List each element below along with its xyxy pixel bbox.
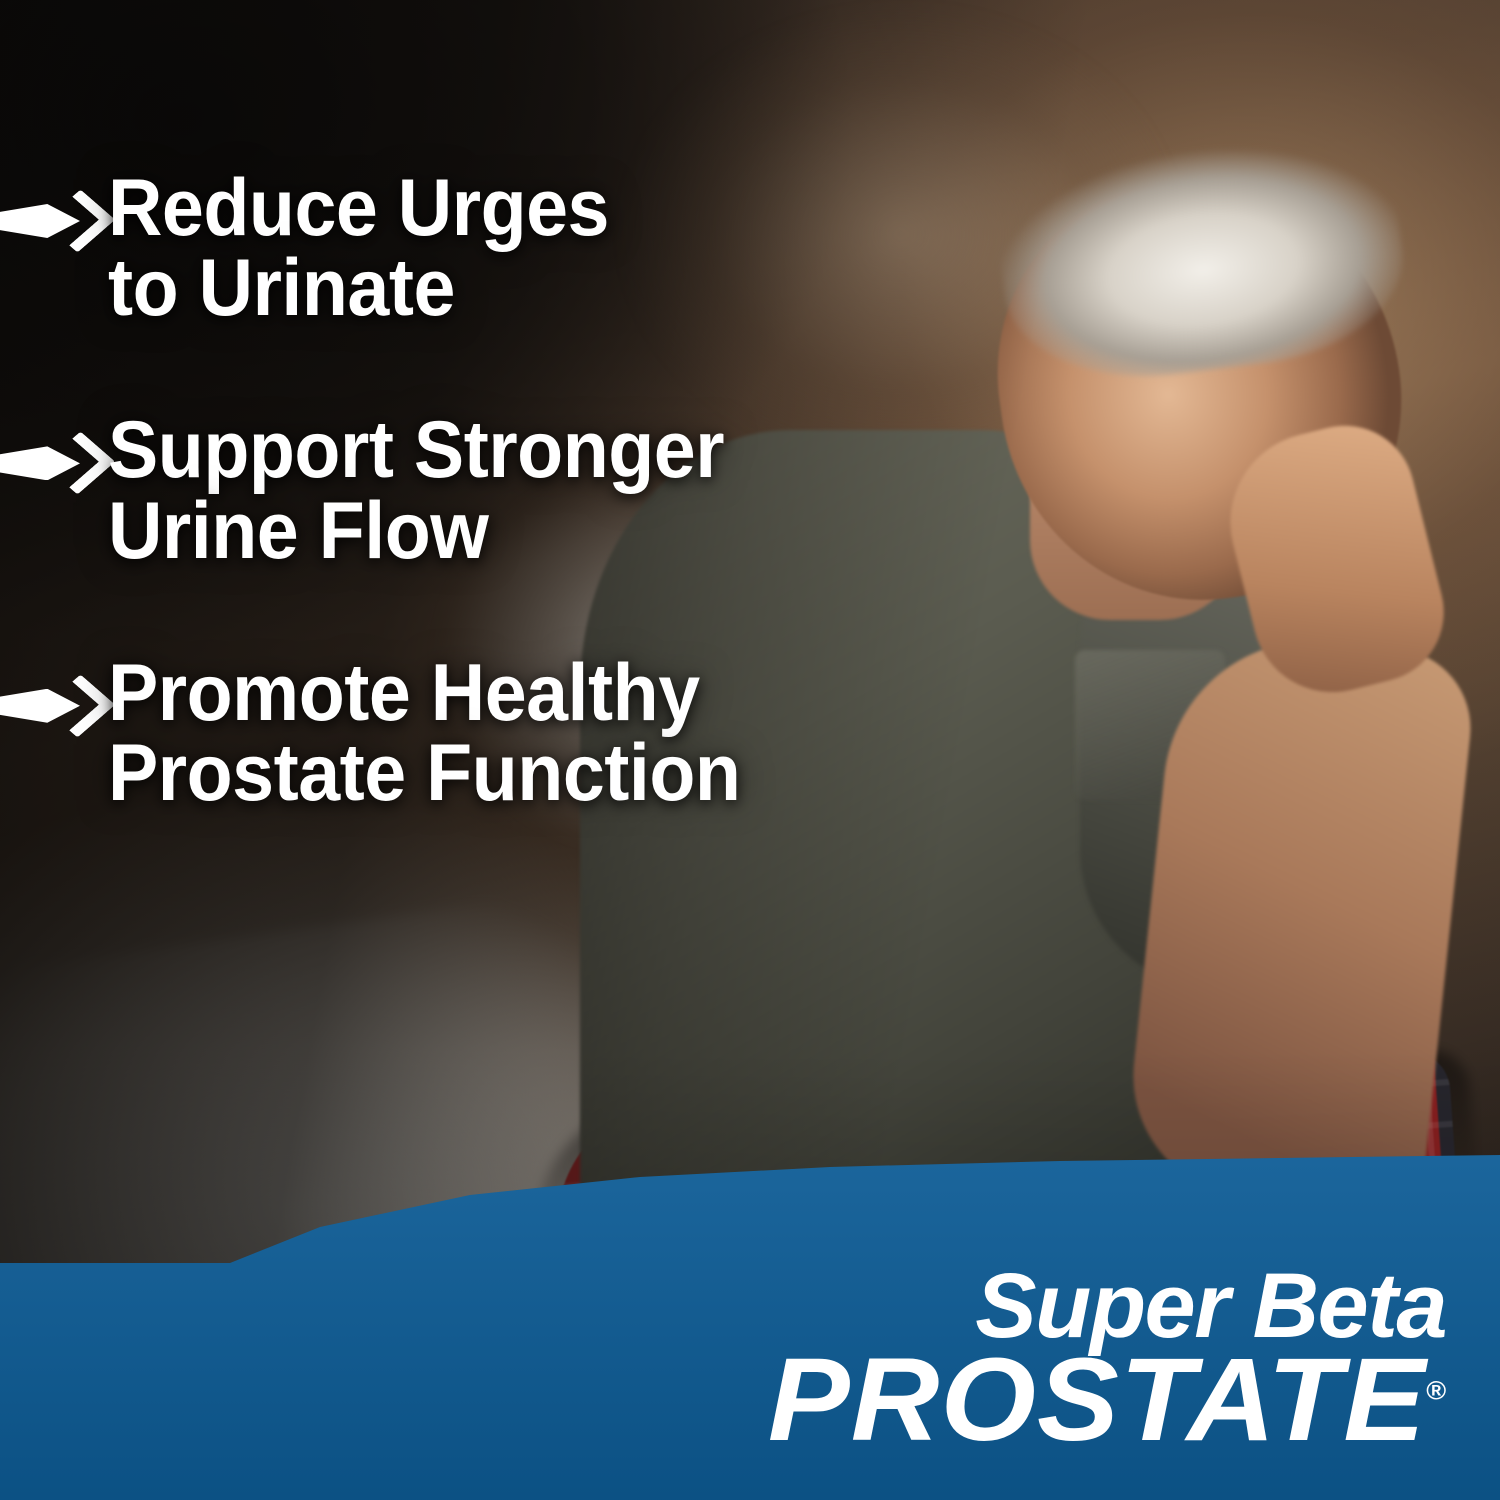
benefit-text: Support Stronger Urine Flow <box>108 410 724 570</box>
benefit-item-reduce-urges: Reduce Urges to Urinate <box>0 168 1010 328</box>
brand-name-secondary: PROSTATE® <box>768 1344 1446 1456</box>
brand-logo: Super Beta PROSTATE® <box>794 1263 1446 1456</box>
arrow-icon <box>0 432 108 496</box>
registered-trademark-symbol: ® <box>1426 1376 1446 1406</box>
arrow-icon <box>0 190 108 254</box>
benefit-item-stronger-flow: Support Stronger Urine Flow <box>0 410 1010 570</box>
benefit-text: Reduce Urges to Urinate <box>108 168 609 328</box>
arrow-icon <box>0 675 108 739</box>
prostate-supplement-ad: Reduce Urges to Urinate Support Stronger… <box>0 0 1500 1500</box>
benefit-list: Reduce Urges to Urinate Support Stronger… <box>0 168 1010 813</box>
benefit-text: Promote Healthy Prostate Function <box>108 653 740 813</box>
brand-name-secondary-text: PROSTATE <box>768 1334 1426 1466</box>
benefit-item-prostate-function: Promote Healthy Prostate Function <box>0 653 1010 813</box>
